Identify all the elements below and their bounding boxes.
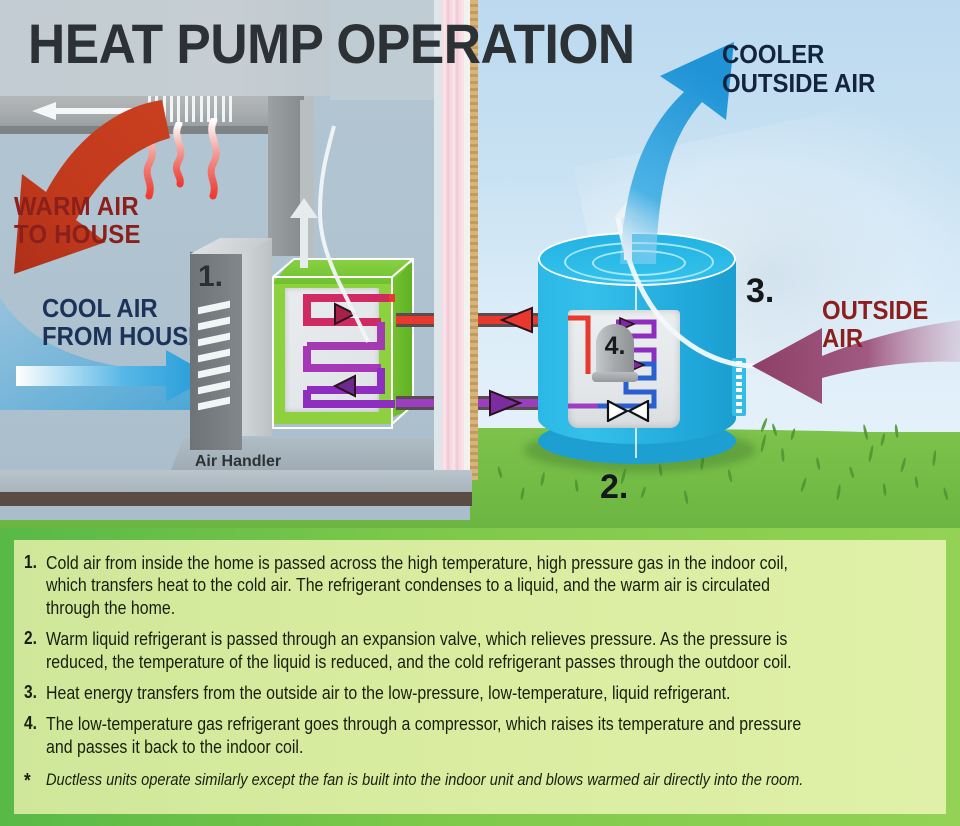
step-text: Cold air from inside the home is passed … — [46, 552, 808, 619]
step-number: 4. — [24, 713, 43, 734]
house-floor — [0, 470, 472, 492]
infographic-heat-pump-operation: WARM AIR TO HOUSE COOL AIR FROM HOUSE — [0, 0, 960, 826]
step-number: 2. — [24, 628, 43, 649]
step-item: 3.Heat energy transfers from the outside… — [24, 682, 932, 704]
callout-outdoor-unit: 2. — [600, 468, 628, 507]
outside-air-label-line2: AIR — [822, 324, 942, 352]
footnote: * Ductless units operate similarly excep… — [24, 770, 932, 793]
step-text: Heat energy transfers from the outside a… — [46, 682, 808, 704]
step-text: Warm liquid refrigerant is passed throug… — [46, 628, 808, 673]
step-item: 1.Cold air from inside the home is passe… — [24, 552, 932, 619]
step-text: The low-temperature gas refrigerant goes… — [46, 713, 808, 758]
cooler-air-label-line2: OUTSIDE AIR — [722, 69, 934, 98]
steps-panel-inner: 1.Cold air from inside the home is passe… — [14, 540, 946, 814]
outside-air-label: OUTSIDE AIR — [822, 296, 942, 352]
steps-panel: 1.Cold air from inside the home is passe… — [0, 528, 960, 826]
warm-air-label: WARM AIR TO HOUSE — [14, 192, 198, 248]
expansion-valve-icon — [606, 400, 650, 422]
step-item: 2.Warm liquid refrigerant is passed thro… — [24, 628, 932, 673]
outside-air-label-line1: OUTSIDE — [822, 296, 942, 324]
page-title: HEAT PUMP OPERATION — [28, 16, 635, 72]
air-handler-label-line1: Air Handler — [148, 452, 328, 472]
step-item: 4.The low-temperature gas refrigerant go… — [24, 713, 932, 758]
warm-air-label-line1: WARM AIR — [14, 192, 198, 220]
illustration-scene: WARM AIR TO HOUSE COOL AIR FROM HOUSE — [0, 0, 960, 535]
callout-outdoor-coil: 3. — [746, 272, 774, 311]
cooler-outside-air-label: COOLER OUTSIDE AIR — [722, 40, 934, 98]
steps-list: 1.Cold air from inside the home is passe… — [24, 552, 932, 758]
liquid-flow-arrow-icon — [484, 389, 524, 417]
step-number: 3. — [24, 682, 43, 703]
warm-air-label-line2: TO HOUSE — [14, 220, 198, 248]
cooler-air-label-line1: COOLER — [722, 40, 934, 69]
house-foundation — [0, 492, 472, 506]
step-number: 1. — [24, 552, 43, 573]
footnote-marker: * — [24, 770, 43, 793]
return-air-arrow-icon — [286, 196, 322, 268]
footnote-text: Ductless units operate similarly except … — [46, 770, 808, 790]
